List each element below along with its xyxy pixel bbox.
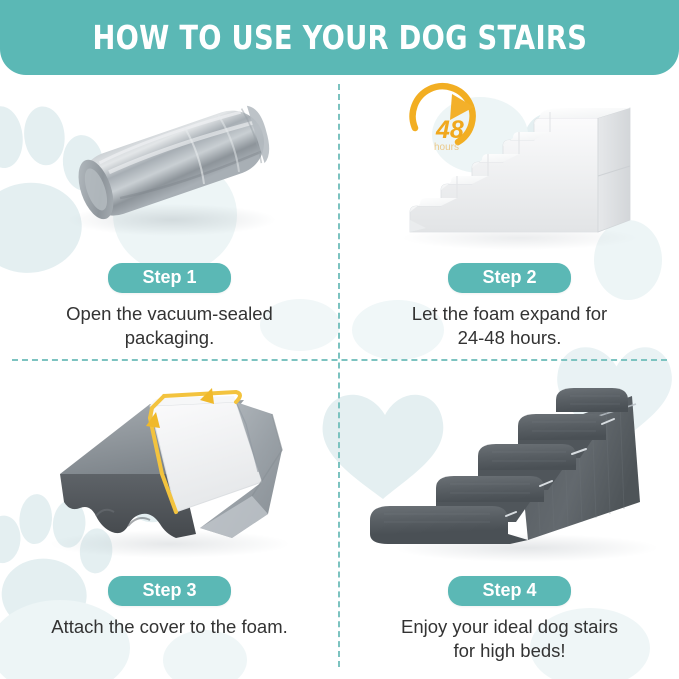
finished-dog-stairs-icon	[340, 362, 679, 570]
header-banner: HOW TO USE YOUR DOG STAIRS	[0, 0, 679, 75]
divider-vertical	[338, 84, 340, 667]
step-badge-1: Step 1	[108, 263, 230, 293]
white-foam-stairs-icon: 48 hours	[340, 80, 679, 255]
cover-over-foam-icon	[0, 362, 339, 570]
svg-text:48: 48	[435, 116, 464, 144]
step-card-1: Step 1 Open the vacuum-sealed packaging.	[0, 80, 339, 358]
step-card-4: Step 4 Enjoy your ideal dog stairs for h…	[340, 362, 679, 679]
vacuum-sealed-roll-icon	[0, 80, 339, 255]
svg-text:hours: hours	[434, 142, 459, 153]
step-badge-4: Step 4	[448, 576, 570, 606]
step-4-illustration	[340, 362, 679, 570]
step-description-3: Attach the cover to the foam.	[51, 615, 288, 639]
step-badge-2: Step 2	[448, 263, 570, 293]
step-card-3: Step 3 Attach the cover to the foam.	[0, 362, 339, 679]
step-description-1: Open the vacuum-sealed packaging.	[66, 302, 273, 351]
step-description-4: Enjoy your ideal dog stairs for high bed…	[401, 615, 618, 664]
page-title: HOW TO USE YOUR DOG STAIRS	[92, 18, 587, 57]
infographic-page: HOW TO USE YOUR DOG STAIRS	[0, 0, 679, 679]
step-description-2: Let the foam expand for 24-48 hours.	[412, 302, 607, 351]
step-badge-3: Step 3	[108, 576, 230, 606]
step-1-illustration	[0, 80, 339, 255]
stair-tread-1	[370, 506, 528, 544]
timer-48-hours-icon: 48 hours	[413, 86, 474, 153]
step-3-illustration	[0, 362, 339, 570]
step-2-illustration: 48 hours	[340, 80, 679, 255]
step-card-2: 48 hours Step 2 Let the foam expand for …	[340, 80, 679, 358]
